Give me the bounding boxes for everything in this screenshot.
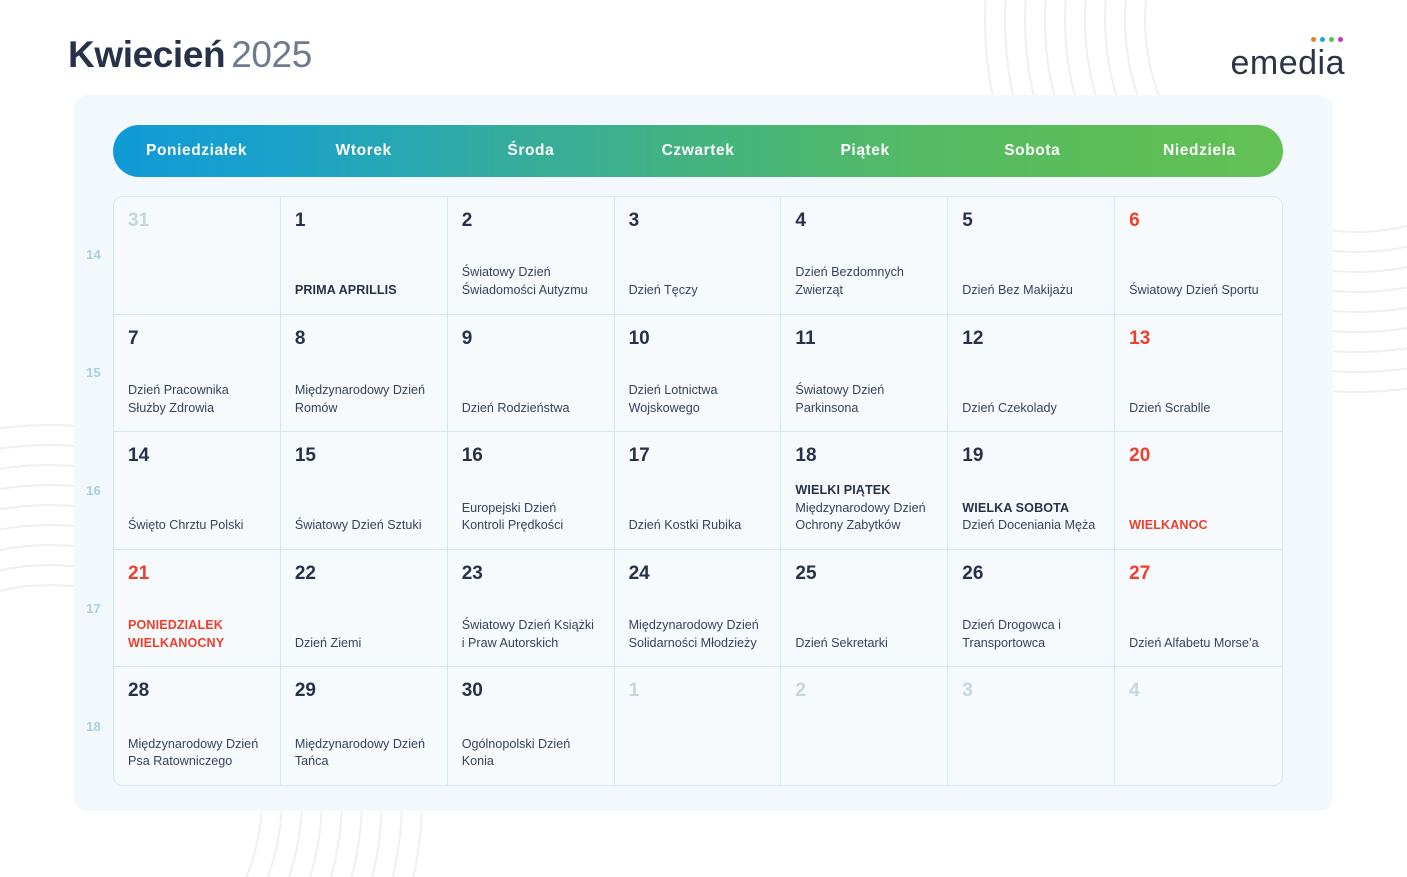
day-cell[interactable]: 3 bbox=[948, 667, 1115, 785]
week-number: 16 bbox=[74, 483, 113, 498]
day-cell[interactable]: 6Światowy Dzień Sportu bbox=[1115, 197, 1282, 315]
day-event-label: Dzień Doceniania Męża bbox=[962, 517, 1100, 535]
day-event-label: Światowy Dzień Sportu bbox=[1129, 282, 1268, 300]
day-cell[interactable]: 9Dzień Rodzieństwa bbox=[448, 315, 615, 433]
day-number: 14 bbox=[128, 445, 266, 467]
day-number: 9 bbox=[462, 328, 600, 350]
day-event-label: Dzień Rodzieństwa bbox=[462, 400, 600, 418]
logo-dot-2 bbox=[1320, 37, 1325, 42]
day-events: Dzień Tęczy bbox=[629, 282, 767, 300]
day-number: 2 bbox=[795, 680, 933, 702]
day-events: Dzień Bezdomnych Zwierząt bbox=[795, 264, 933, 299]
day-cell[interactable]: 18WIELKI PIĄTEKMiędzynarodowy Dzień Ochr… bbox=[781, 432, 948, 550]
day-event-label: Dzień Tęczy bbox=[629, 282, 767, 300]
weekday-header-2: Wtorek bbox=[280, 125, 447, 177]
day-events: Międzynarodowy Dzień Romów bbox=[295, 382, 433, 417]
day-event-label: WIELKI PIĄTEK bbox=[795, 482, 933, 500]
day-events: Światowy Dzień Sportu bbox=[1129, 282, 1268, 300]
day-cell[interactable]: 3Dzień Tęczy bbox=[615, 197, 782, 315]
day-cell[interactable]: 16Europejski Dzień Kontroli Prędkości bbox=[448, 432, 615, 550]
week-number: 17 bbox=[74, 601, 113, 616]
day-events: Światowy Dzień Parkinsona bbox=[795, 382, 933, 417]
brand-logo: emedia bbox=[1230, 46, 1345, 80]
day-events: Światowy Dzień Sztuki bbox=[295, 517, 433, 535]
day-cell[interactable]: 28Międzynarodowy Dzień Psa Ratowniczego bbox=[114, 667, 281, 785]
day-cell[interactable]: 20WIELKANOC bbox=[1115, 432, 1282, 550]
day-number: 28 bbox=[128, 680, 266, 702]
day-number: 18 bbox=[795, 445, 933, 467]
logo-dot-4 bbox=[1338, 37, 1343, 42]
day-number: 4 bbox=[1129, 680, 1268, 702]
day-cell[interactable]: 29Międzynarodowy Dzień Tańca bbox=[281, 667, 448, 785]
day-cell[interactable]: 31 bbox=[114, 197, 281, 315]
day-event-label: Dzień Ziemi bbox=[295, 635, 433, 653]
day-number: 4 bbox=[795, 210, 933, 232]
day-events: Dzień Lotnictwa Wojskowego bbox=[629, 382, 767, 417]
day-number: 1 bbox=[295, 210, 433, 232]
day-number: 12 bbox=[962, 328, 1100, 350]
day-cell[interactable]: 30Ogólnopolski Dzień Konia bbox=[448, 667, 615, 785]
day-number: 23 bbox=[462, 563, 600, 585]
day-events: WIELKI PIĄTEKMiędzynarodowy Dzień Ochron… bbox=[795, 482, 933, 535]
day-event-label: Dzień Czekolady bbox=[962, 400, 1100, 418]
day-number: 8 bbox=[295, 328, 433, 350]
year-label: 2025 bbox=[231, 34, 312, 75]
day-cell[interactable]: 1 bbox=[615, 667, 782, 785]
day-number: 20 bbox=[1129, 445, 1268, 467]
day-number: 10 bbox=[629, 328, 767, 350]
day-event-label: Międzynarodowy Dzień Ochrony Zabytków bbox=[795, 500, 933, 535]
weekday-header-4: Czwartek bbox=[614, 125, 781, 177]
day-number: 16 bbox=[462, 445, 600, 467]
day-number: 27 bbox=[1129, 563, 1268, 585]
day-events: Międzynarodowy Dzień Solidarności Młodzi… bbox=[629, 617, 767, 652]
day-cell[interactable]: 26Dzień Drogowca i Transportowca bbox=[948, 550, 1115, 668]
weekday-header-6: Sobota bbox=[949, 125, 1116, 177]
day-cell[interactable]: 23Światowy Dzień Książki i Praw Autorski… bbox=[448, 550, 615, 668]
day-events: Dzień Kostki Rubika bbox=[629, 517, 767, 535]
day-cell[interactable]: 1PRIMA APRILLIS bbox=[281, 197, 448, 315]
day-cell[interactable]: 2Światowy Dzień Świadomości Autyzmu bbox=[448, 197, 615, 315]
day-event-label: Dzień Scrablle bbox=[1129, 400, 1268, 418]
day-events: Międzynarodowy Dzień Psa Ratowniczego bbox=[128, 736, 266, 771]
day-event-label: Światowy Dzień Świadomości Autyzmu bbox=[462, 264, 600, 299]
weekday-header-bar: PoniedziałekWtorekŚrodaCzwartekPiątekSob… bbox=[113, 125, 1283, 177]
weekday-header-3: Środa bbox=[447, 125, 614, 177]
day-cell[interactable]: 10Dzień Lotnictwa Wojskowego bbox=[615, 315, 782, 433]
calendar-card: PoniedziałekWtorekŚrodaCzwartekPiątekSob… bbox=[74, 95, 1333, 811]
day-events: Święto Chrztu Polski bbox=[128, 517, 266, 535]
day-event-label: Dzień Bez Makijażu bbox=[962, 282, 1100, 300]
day-cell[interactable]: 14Święto Chrztu Polski bbox=[114, 432, 281, 550]
day-events: Dzień Sekretarki bbox=[795, 635, 933, 653]
day-events: Dzień Ziemi bbox=[295, 635, 433, 653]
day-event-label: Dzień Lotnictwa Wojskowego bbox=[629, 382, 767, 417]
day-number: 19 bbox=[962, 445, 1100, 467]
day-number: 5 bbox=[962, 210, 1100, 232]
day-cell[interactable]: 19WIELKA SOBOTADzień Doceniania Męża bbox=[948, 432, 1115, 550]
day-cell[interactable]: 24Międzynarodowy Dzień Solidarności Młod… bbox=[615, 550, 782, 668]
day-cell[interactable]: 25Dzień Sekretarki bbox=[781, 550, 948, 668]
day-event-label: Światowy Dzień Parkinsona bbox=[795, 382, 933, 417]
logo-dots-icon bbox=[1311, 37, 1343, 42]
day-number: 24 bbox=[629, 563, 767, 585]
day-number: 31 bbox=[128, 210, 266, 232]
day-number: 30 bbox=[462, 680, 600, 702]
day-number: 15 bbox=[295, 445, 433, 467]
day-event-label: Dzień Alfabetu Morse’a bbox=[1129, 635, 1268, 653]
day-events: Dzień Czekolady bbox=[962, 400, 1100, 418]
day-cell[interactable]: 8Międzynarodowy Dzień Romów bbox=[281, 315, 448, 433]
day-event-label: PRIMA APRILLIS bbox=[295, 282, 433, 300]
day-event-label: Europejski Dzień Kontroli Prędkości bbox=[462, 500, 600, 535]
day-cell[interactable]: 13Dzień Scrablle bbox=[1115, 315, 1282, 433]
day-cell[interactable]: 4 bbox=[1115, 667, 1282, 785]
day-cell[interactable]: 17Dzień Kostki Rubika bbox=[615, 432, 782, 550]
day-events: Dzień Scrablle bbox=[1129, 400, 1268, 418]
day-event-label: PONIEDZIALEK WIELKANOCNY bbox=[128, 617, 266, 652]
week-number-column: 1415161718 bbox=[74, 196, 113, 786]
weekday-header-5: Piątek bbox=[782, 125, 949, 177]
day-cell[interactable]: 5Dzień Bez Makijażu bbox=[948, 197, 1115, 315]
day-events: WIELKANOC bbox=[1129, 517, 1268, 535]
calendar-grid-wrapper: 1415161718 311PRIMA APRILLIS2Światowy Dz… bbox=[74, 196, 1333, 786]
month-label: Kwiecień bbox=[68, 34, 225, 75]
day-events: Światowy Dzień Książki i Praw Autorskich bbox=[462, 617, 600, 652]
day-cell[interactable]: 2 bbox=[781, 667, 948, 785]
day-number: 11 bbox=[795, 328, 933, 350]
day-event-label: Międzynarodowy Dzień Psa Ratowniczego bbox=[128, 736, 266, 771]
day-cell[interactable]: 11Światowy Dzień Parkinsona bbox=[781, 315, 948, 433]
day-events: PONIEDZIALEK WIELKANOCNY bbox=[128, 617, 266, 652]
day-cell[interactable]: 22Dzień Ziemi bbox=[281, 550, 448, 668]
day-number: 26 bbox=[962, 563, 1100, 585]
day-event-label: Dzień Kostki Rubika bbox=[629, 517, 767, 535]
day-cell[interactable]: 4Dzień Bezdomnych Zwierząt bbox=[781, 197, 948, 315]
day-event-label: WIELKA SOBOTA bbox=[962, 500, 1100, 518]
day-number: 21 bbox=[128, 563, 266, 585]
day-event-label: Światowy Dzień Książki i Praw Autorskich bbox=[462, 617, 600, 652]
day-events: Dzień Drogowca i Transportowca bbox=[962, 617, 1100, 652]
day-event-label: Dzień Drogowca i Transportowca bbox=[962, 617, 1100, 652]
day-number: 3 bbox=[629, 210, 767, 232]
day-events: Dzień Alfabetu Morse’a bbox=[1129, 635, 1268, 653]
day-events: PRIMA APRILLIS bbox=[295, 282, 433, 300]
day-cell[interactable]: 7Dzień Pracownika Służby Zdrowia bbox=[114, 315, 281, 433]
weekday-header-7: Niedziela bbox=[1116, 125, 1283, 177]
day-number: 22 bbox=[295, 563, 433, 585]
day-events: Ogólnopolski Dzień Konia bbox=[462, 736, 600, 771]
day-cell[interactable]: 15Światowy Dzień Sztuki bbox=[281, 432, 448, 550]
calendar-page: Kwiecień2025 emedia PoniedziałekWtorekŚr… bbox=[0, 0, 1407, 877]
day-number: 1 bbox=[629, 680, 767, 702]
day-cell[interactable]: 12Dzień Czekolady bbox=[948, 315, 1115, 433]
day-number: 29 bbox=[295, 680, 433, 702]
day-events: Światowy Dzień Świadomości Autyzmu bbox=[462, 264, 600, 299]
day-event-label: WIELKANOC bbox=[1129, 517, 1268, 535]
day-events: WIELKA SOBOTADzień Doceniania Męża bbox=[962, 500, 1100, 535]
day-number: 2 bbox=[462, 210, 600, 232]
day-event-label: Międzynarodowy Dzień Solidarności Młodzi… bbox=[629, 617, 767, 652]
day-events: Dzień Rodzieństwa bbox=[462, 400, 600, 418]
weekday-header-1: Poniedziałek bbox=[113, 125, 280, 177]
day-number: 25 bbox=[795, 563, 933, 585]
page-header: Kwiecień2025 emedia bbox=[0, 0, 1407, 100]
logo-dot-1 bbox=[1311, 37, 1316, 42]
week-number: 15 bbox=[74, 365, 113, 380]
day-event-label: Międzynarodowy Dzień Tańca bbox=[295, 736, 433, 771]
day-event-label: Dzień Pracownika Służby Zdrowia bbox=[128, 382, 266, 417]
day-event-label: Dzień Sekretarki bbox=[795, 635, 933, 653]
page-title: Kwiecień2025 bbox=[68, 32, 312, 78]
day-event-label: Międzynarodowy Dzień Romów bbox=[295, 382, 433, 417]
day-events: Dzień Bez Makijażu bbox=[962, 282, 1100, 300]
day-number: 6 bbox=[1129, 210, 1268, 232]
logo-dot-3 bbox=[1329, 37, 1334, 42]
day-cell[interactable]: 21PONIEDZIALEK WIELKANOCNY bbox=[114, 550, 281, 668]
day-events: Dzień Pracownika Służby Zdrowia bbox=[128, 382, 266, 417]
logo-text: emedia bbox=[1230, 46, 1345, 80]
day-event-label: Święto Chrztu Polski bbox=[128, 517, 266, 535]
day-events: Międzynarodowy Dzień Tańca bbox=[295, 736, 433, 771]
day-number: 17 bbox=[629, 445, 767, 467]
week-number: 18 bbox=[74, 719, 113, 734]
day-event-label: Światowy Dzień Sztuki bbox=[295, 517, 433, 535]
day-number: 3 bbox=[962, 680, 1100, 702]
week-number: 14 bbox=[74, 247, 113, 262]
day-event-label: Ogólnopolski Dzień Konia bbox=[462, 736, 600, 771]
day-events: Europejski Dzień Kontroli Prędkości bbox=[462, 500, 600, 535]
day-event-label: Dzień Bezdomnych Zwierząt bbox=[795, 264, 933, 299]
day-cell[interactable]: 27Dzień Alfabetu Morse’a bbox=[1115, 550, 1282, 668]
calendar-grid: 311PRIMA APRILLIS2Światowy Dzień Świadom… bbox=[113, 196, 1283, 786]
day-number: 13 bbox=[1129, 328, 1268, 350]
day-number: 7 bbox=[128, 328, 266, 350]
